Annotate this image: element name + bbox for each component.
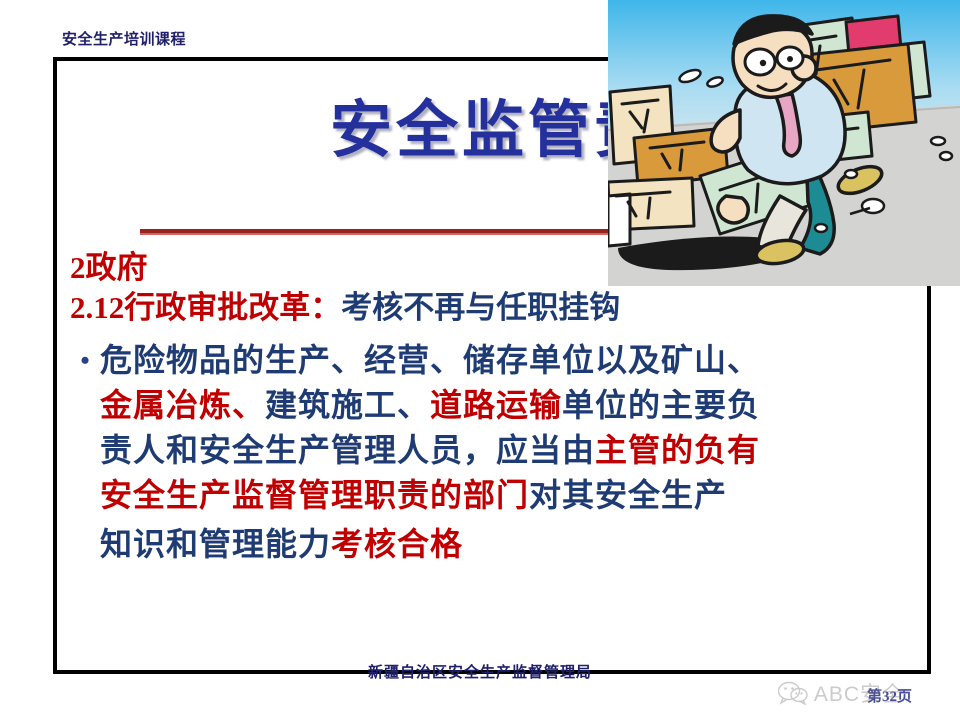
paragraph-segment-blue: 单位的主要负 (562, 387, 760, 423)
section-label: 政府 (86, 250, 148, 285)
section-number: 2 (70, 250, 86, 285)
slide-footer: 新疆自治区安全生产监督管理局 (53, 661, 907, 682)
paragraph-segment-blue: 危险物品的生产、经营、储存单位以及矿山、 (100, 342, 760, 378)
paragraph-segment-blue: 对其安全生产 (529, 477, 727, 513)
paragraph-line: 安全生产监督管理职责的部门对其安全生产 (100, 473, 890, 518)
paragraph-segment-blue: 知识和管理能力 (100, 526, 331, 562)
course-header-label: 安全生产培训课程 (62, 28, 186, 49)
footer-rule-right (606, 670, 698, 673)
paragraph-segment-blue: 建筑施工、 (265, 387, 430, 423)
paragraph-segment-red: 考核合格 (331, 526, 463, 562)
page-number: 第32页 (867, 685, 912, 706)
footer-organization: 新疆自治区安全生产监督管理局 (368, 661, 592, 682)
clipart-illustration (608, 0, 960, 286)
subsection-label-red: 行政审批改革： (124, 290, 341, 325)
clipart-certificates-cartoon (608, 0, 960, 286)
paragraph-text: 危险物品的生产、经营、储存单位以及矿山、金属冶炼、建筑施工、道路运输单位的主要负… (100, 338, 890, 570)
paragraph-line: 责人和安全生产管理人员，应当由主管的负有 (100, 428, 890, 473)
paragraph-segment-red: 金属冶炼、 (100, 387, 265, 423)
bullet-dot-icon: • (70, 338, 100, 383)
presentation-slide: 安全生产培训课程 安全监管责 2政府 2.12行政审批改革：考核不再与任职挂钩 … (0, 0, 960, 720)
paragraph-segment-red: 主管的负有 (595, 432, 760, 468)
slide-body: 2政府 2.12行政审批改革：考核不再与任职挂钩 • 危险物品的生产、经营、储存… (70, 248, 890, 570)
paragraph-line: 危险物品的生产、经营、储存单位以及矿山、 (100, 338, 890, 383)
wechat-icon (778, 681, 808, 705)
paragraph-segment-red: 安全生产监督管理职责的部门 (100, 477, 529, 513)
paragraph-segment-red: 道路运输 (430, 387, 562, 423)
subsection-heading: 2.12行政审批改革：考核不再与任职挂钩 (70, 288, 890, 328)
paragraph-line: 知识和管理能力考核合格 (100, 518, 890, 570)
subsection-number: 2.12 (70, 290, 124, 325)
footer-rule-left (262, 670, 354, 673)
bullet-paragraph: • 危险物品的生产、经营、储存单位以及矿山、金属冶炼、建筑施工、道路运输单位的主… (70, 338, 890, 570)
paragraph-segment-blue: 责人和安全生产管理人员，应当由 (100, 432, 595, 468)
subsection-label-blue: 考核不再与任职挂钩 (341, 290, 620, 325)
paragraph-line: 金属冶炼、建筑施工、道路运输单位的主要负 (100, 383, 890, 428)
